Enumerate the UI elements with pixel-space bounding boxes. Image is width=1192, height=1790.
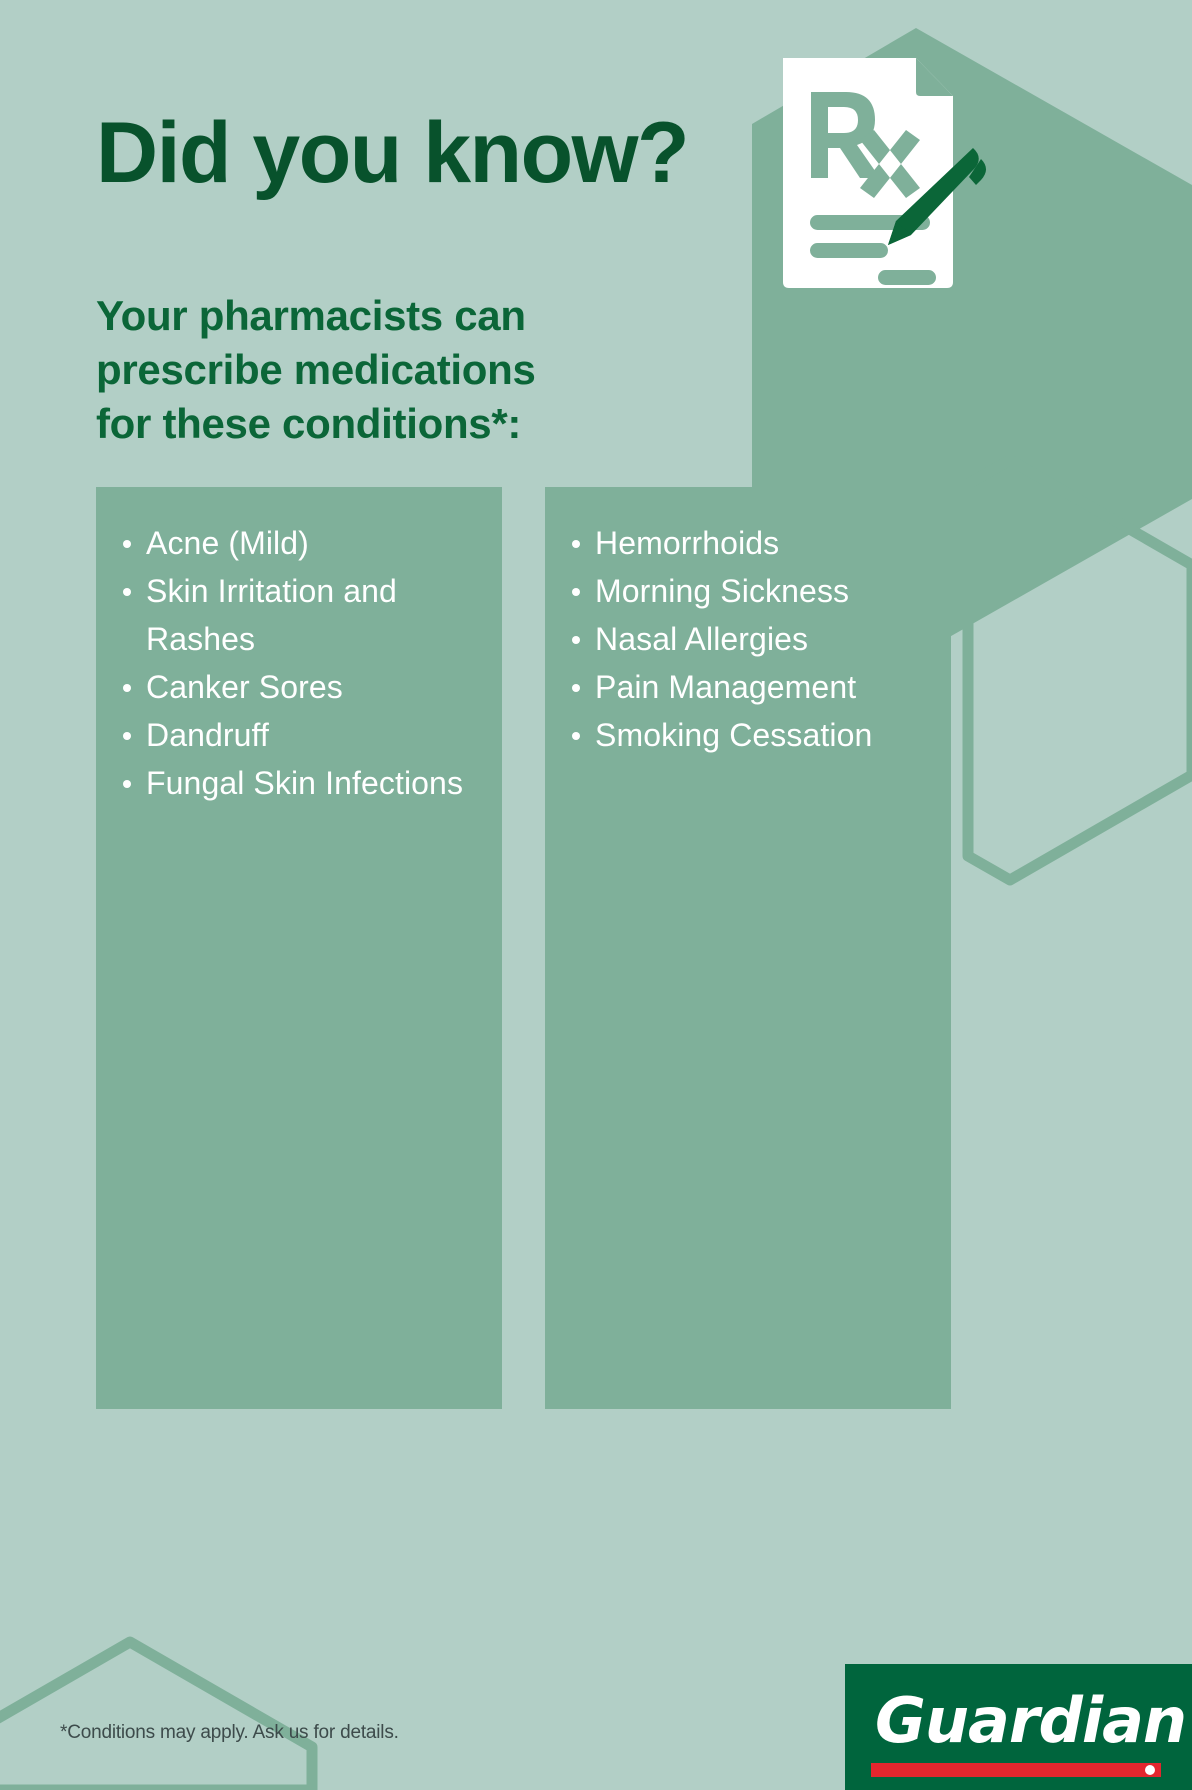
conditions-panel-right: Hemorrhoids Morning Sickness Nasal Aller… — [545, 487, 951, 1409]
conditions-list-right: Hemorrhoids Morning Sickness Nasal Aller… — [545, 487, 951, 759]
list-item: Skin Irritation and Rashes — [118, 567, 484, 663]
poster-canvas: Did you know? Your pharmacists can presc… — [0, 0, 1192, 1790]
list-item: Hemorrhoids — [567, 519, 933, 567]
page-title: Did you know? — [96, 110, 688, 198]
list-item: Dandruff — [118, 711, 484, 759]
prescription-document-icon — [748, 30, 992, 318]
list-item: Pain Management — [567, 663, 933, 711]
conditions-panel-left: Acne (Mild) Skin Irritation and Rashes C… — [96, 487, 502, 1409]
subtitle-line-2: prescribe medications — [96, 343, 696, 397]
list-item: Morning Sickness — [567, 567, 933, 615]
subtitle-line-1: Your pharmacists can — [96, 289, 696, 343]
document-fold — [916, 58, 953, 96]
conditions-list-left: Acne (Mild) Skin Irritation and Rashes C… — [96, 487, 502, 807]
hexagon-outline-right — [968, 460, 1192, 880]
footnote-disclaimer: *Conditions may apply. Ask us for detail… — [60, 1722, 399, 1744]
subtitle-line-3: for these conditions*: — [96, 397, 696, 451]
list-item: Canker Sores — [118, 663, 484, 711]
guardian-logo-rule — [871, 1763, 1161, 1777]
document-line-2 — [810, 243, 888, 258]
guardian-logo: Guardian — [845, 1664, 1192, 1790]
list-item: Smoking Cessation — [567, 711, 933, 759]
page-subtitle: Your pharmacists can prescribe medicatio… — [96, 289, 696, 450]
hexagon-outline-bottom-left — [0, 1642, 312, 1790]
list-item: Acne (Mild) — [118, 519, 484, 567]
list-item: Nasal Allergies — [567, 615, 933, 663]
guardian-logo-wordmark: Guardian — [875, 1690, 1186, 1752]
guardian-logo-dot — [1145, 1765, 1155, 1775]
document-signature-line — [878, 270, 936, 285]
list-item: Fungal Skin Infections — [118, 759, 484, 807]
